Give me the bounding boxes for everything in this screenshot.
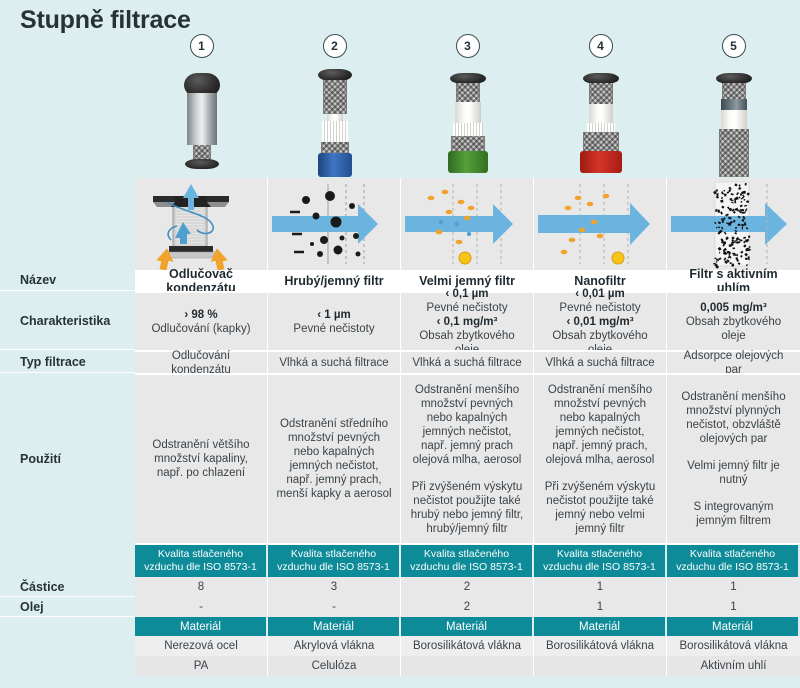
table-row-material-header: MateriálMateriálMateriálMateriálMateriál [0,617,800,636]
bowl-base [448,151,488,173]
cell-name-2: Hrubý/jemný filtr [268,270,401,291]
cell-part-3: 2 [401,577,534,597]
cell-mat1-3: Borosilikátová vlákna [401,636,534,656]
usage-paragraph: S integrovaným jemným filtrem [674,500,793,528]
cell-mat2-3 [401,656,534,676]
bowl-base [318,153,352,177]
coarse-particle-flow-diagram [268,178,401,270]
cell-oil-3: 2 [401,597,534,617]
cell-typ-2: Vlhká a suchá filtrace [268,352,401,373]
table-row-material-1: Nerezová ocelAkrylová vláknaBorosilikáto… [0,636,800,656]
product-cell-3: 3 [401,30,534,178]
characteristic-line: ‹ 0,1 µm [445,287,488,301]
base-ring [185,159,219,169]
cell-mat1-1: Nerezová ocel [135,636,268,656]
usage-paragraph: Odstranění většího množství kapaliny, na… [142,438,260,480]
very-fine-filter-image [440,63,496,178]
cell-char-4: ‹ 0,01 µmPevné nečistoty‹ 0,01 mg/m³Obsa… [534,293,667,350]
carbon-bed-flow-diagram [667,178,800,270]
cell-oil-2: - [268,597,401,617]
cell-iso-3: Kvalita stlačeného vzduchu dle ISO 8573-… [401,545,534,577]
row-label-particles: Částice [0,577,135,597]
row-label-filtration-type: Typ filtrace [0,352,135,373]
nano-droplet-flow-diagram [534,178,667,270]
characteristic-line: ‹ 0,01 µm [575,287,624,301]
table-bottom-padding [0,676,800,688]
cell-typ-4: Vlhká a suchá filtrace [534,352,667,373]
cell-name-5: Filtr s aktivním uhlím [667,270,800,291]
cell-iso-4: Kvalita stlačeného vzduchu dle ISO 8573-… [534,545,667,577]
characteristic-line: Odlučování (kapky) [151,322,250,336]
row-label-name: Název [0,270,135,291]
cell-typ-1: Odlučování kondenzátu [135,352,268,373]
fine-droplet-flow-diagram [401,178,534,270]
filtration-table: Název Odlučovač kondenzátuHrubý/jemný fi… [0,270,800,688]
stage-badge-5: 5 [722,34,746,58]
cell-mat-5: Materiál [667,617,800,636]
row-label-oil: Olej [0,597,135,617]
usage-paragraph: Odstranění středního množství pevných ne… [275,417,393,501]
cell-char-3: ‹ 0,1 µmPevné nečistoty‹ 0,1 mg/m³Obsah … [401,293,534,350]
cell-oil-5: 1 [667,597,800,617]
cell-mat-3: Materiál [401,617,534,636]
characteristic-line: Pevné nečistoty [426,301,507,315]
product-cell-4: 4 [534,30,667,178]
stage-badge-2: 2 [323,34,347,58]
cell-mat2-2: Celulóza [268,656,401,676]
row-label-iso-pad [0,545,135,577]
characteristic-line: Pevné nečistoty [293,322,374,336]
activated-carbon-filter-image [706,63,762,178]
cell-mat2-5: Aktivním uhlí [667,656,800,676]
table-row-filtration-type: Typ filtrace Odlučování kondenzátuVlhká … [0,352,800,373]
cell-mat-2: Materiál [268,617,401,636]
stage-badge-1: 1 [190,34,214,58]
cyclone-separator-diagram [135,178,268,270]
stage-badge-4: 4 [589,34,613,58]
stage-badge-3: 3 [456,34,480,58]
table-row-iso-header: Kvalita stlačeného vzduchu dle ISO 8573-… [0,545,800,577]
characteristic-line: ‹ 0,1 mg/m³ [437,315,498,329]
usage-paragraph: Odstranění menšího množství pevných nebo… [541,383,659,467]
cell-mat1-4: Borosilikátová vlákna [534,636,667,656]
characteristic-line: Pevné nečistoty [559,301,640,315]
cell-mat-4: Materiál [534,617,667,636]
table-row-particles: Částice 83211 [0,577,800,597]
cell-part-4: 1 [534,577,667,597]
table-row-name: Název Odlučovač kondenzátuHrubý/jemný fi… [0,270,800,291]
cell-mat1-5: Borosilikátová vlákna [667,636,800,656]
diagram-strip [135,178,800,270]
cell-use-3: Odstranění menšího množství pevných nebo… [401,375,534,543]
cell-mat1-2: Akrylová vlákna [268,636,401,656]
condensate-separator-image [174,63,230,178]
cell-iso-2: Kvalita stlačeného vzduchu dle ISO 8573-… [268,545,401,577]
cell-mat2-1: PA [135,656,268,676]
cell-mat2-4 [534,656,667,676]
characteristic-line: 0,005 mg/m³ [700,301,766,315]
table-row-oil: Olej --211 [0,597,800,617]
table-row-characteristic: Charakteristika › 98 %Odlučování (kapky)… [0,293,800,350]
cell-typ-3: Vlhká a suchá filtrace [401,352,534,373]
table-row-material-2: PACelulózaAktivním uhlí [0,656,800,676]
cell-char-2: ‹ 1 µmPevné nečistoty [268,293,401,350]
product-photo-strip: 12345 [135,30,800,178]
product-cell-1: 1 [135,30,268,178]
nanofilter-image [573,63,629,178]
usage-paragraph: Odstranění menšího množství pevných nebo… [408,383,526,467]
characteristic-line: ‹ 1 µm [317,308,350,322]
cell-part-5: 1 [667,577,800,597]
bowl-base [580,151,622,173]
cell-char-5: 0,005 mg/m³Obsah zbytkového oleje [667,293,800,350]
characteristic-line: ‹ 0,01 mg/m³ [566,315,633,329]
cell-use-1: Odstranění většího množství kapaliny, na… [135,375,268,543]
cell-oil-4: 1 [534,597,667,617]
row-label-characteristic: Charakteristika [0,293,135,350]
row-label-usage: Použití [0,375,135,543]
cell-char-1: › 98 %Odlučování (kapky) [135,293,268,350]
usage-paragraph: Velmi jemný filtr je nutný [674,459,793,487]
cell-mat-1: Materiál [135,617,268,636]
usage-paragraph: Odstranění menšího množství plynných neč… [674,390,793,446]
product-cell-2: 2 [268,30,401,178]
cell-oil-1: - [135,597,268,617]
cell-part-1: 8 [135,577,268,597]
cell-iso-1: Kvalita stlačeného vzduchu dle ISO 8573-… [135,545,268,577]
row-label-material-1-pad [0,636,135,656]
table-row-usage: Použití Odstranění většího množství kapa… [0,375,800,543]
row-label-material-pad [0,617,135,636]
metal-body [187,93,217,145]
cell-use-5: Odstranění menšího množství plynných neč… [667,375,800,543]
usage-paragraph: Při zvýšeném výskytu nečistot použijte t… [541,480,659,536]
cell-part-2: 3 [268,577,401,597]
cell-typ-5: Adsorpce olejových par [667,352,800,373]
characteristic-line: › 98 % [184,308,217,322]
cell-use-4: Odstranění menšího množství pevných nebo… [534,375,667,543]
coarse-fine-filter-image [307,63,363,178]
characteristic-line: Obsah zbytkového oleje [674,315,793,343]
cell-use-2: Odstranění středního množství pevných ne… [268,375,401,543]
product-cell-5: 5 [667,30,800,178]
cell-name-1: Odlučovač kondenzátu [135,270,268,291]
cell-iso-5: Kvalita stlačeného vzduchu dle ISO 8573-… [667,545,800,577]
usage-paragraph: Při zvýšeném výskytu nečistot použijte t… [408,480,526,536]
row-label-material-2-pad [0,656,135,676]
